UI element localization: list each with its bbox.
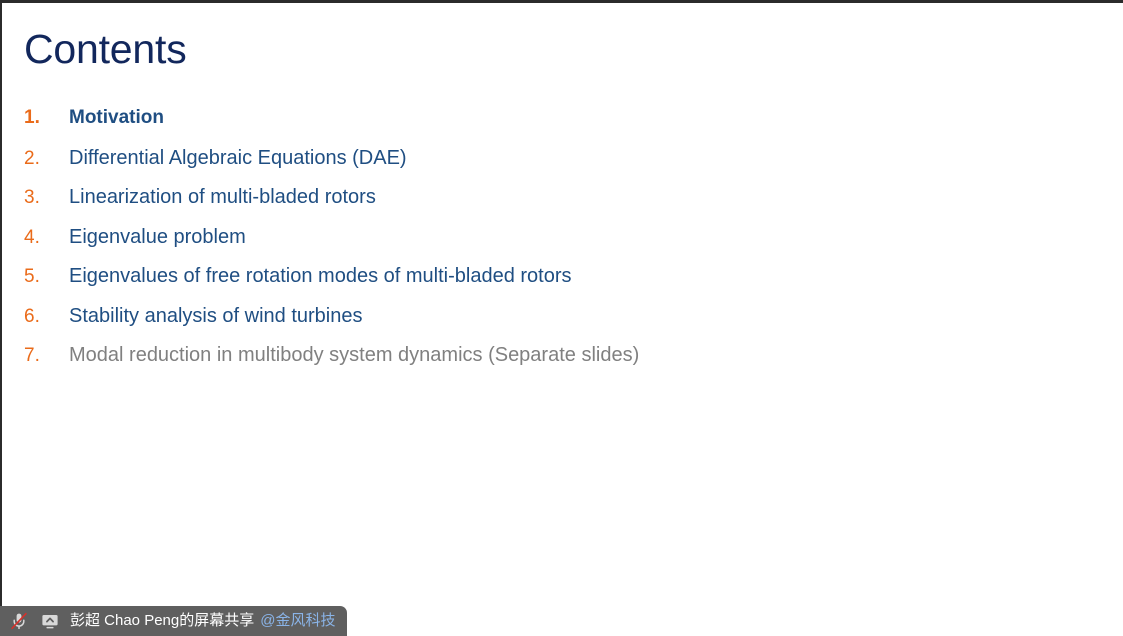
page-title: Contents [24, 24, 187, 74]
list-item-number: 4. [24, 226, 69, 250]
list-item-number: 1. [24, 106, 69, 130]
share-status-text: 彭超 Chao Peng的屏幕共享 [70, 611, 254, 631]
presentation-slide: Contents 1. Motivation 2. Differential A… [0, 0, 1123, 636]
list-item-label: Eigenvalue problem [69, 225, 246, 249]
list-item-label: Eigenvalues of free rotation modes of mu… [69, 264, 572, 288]
screen-share-status-bar[interactable]: 彭超 Chao Peng的屏幕共享 @金风科技 [0, 606, 347, 636]
list-item-label: Linearization of multi-bladed rotors [69, 185, 376, 209]
list-item-label: Modal reduction in multibody system dyna… [69, 343, 639, 367]
list-item[interactable]: 1. Motivation [24, 106, 1064, 146]
list-item[interactable]: 7. Modal reduction in multibody system d… [24, 343, 1064, 383]
contents-list: 1. Motivation 2. Differential Algebraic … [24, 106, 1064, 383]
list-item[interactable]: 4. Eigenvalue problem [24, 225, 1064, 265]
list-item-label: Motivation [69, 106, 164, 130]
list-item-number: 2. [24, 147, 69, 171]
share-organization-label: @金风科技 [260, 611, 335, 631]
list-item[interactable]: 6. Stability analysis of wind turbines [24, 304, 1064, 344]
screen-share-icon[interactable] [39, 610, 61, 632]
list-item[interactable]: 2. Differential Algebraic Equations (DAE… [24, 146, 1064, 186]
list-item-number: 7. [24, 344, 69, 368]
list-item-number: 3. [24, 186, 69, 210]
list-item[interactable]: 3. Linearization of multi-bladed rotors [24, 185, 1064, 225]
list-item-number: 5. [24, 265, 69, 289]
list-item-number: 6. [24, 305, 69, 329]
list-item-label: Stability analysis of wind turbines [69, 304, 362, 328]
window-frame-top-border [0, 0, 1123, 3]
microphone-muted-icon[interactable] [8, 610, 30, 632]
list-item-label: Differential Algebraic Equations (DAE) [69, 146, 407, 170]
list-item[interactable]: 5. Eigenvalues of free rotation modes of… [24, 264, 1064, 304]
window-frame-left-border [0, 3, 2, 636]
